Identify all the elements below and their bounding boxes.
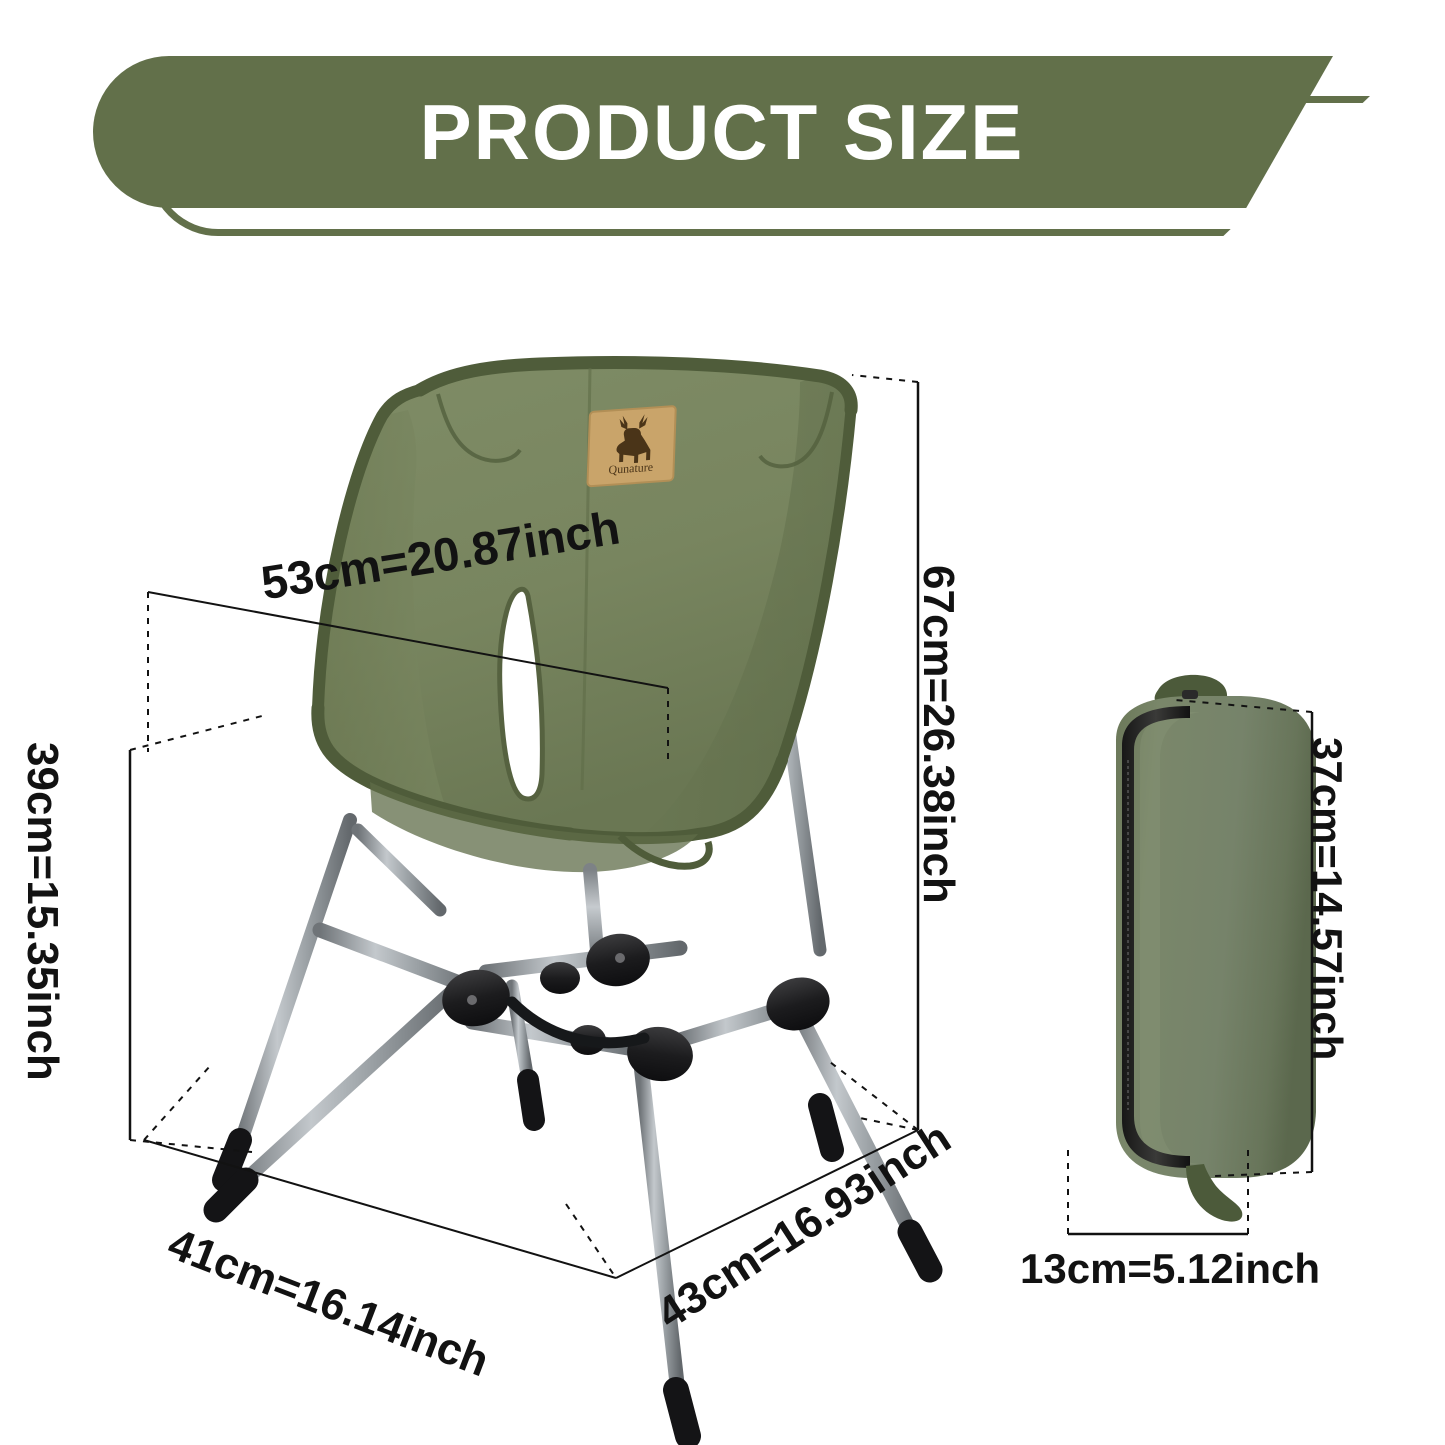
- dimension-label-seat-depth: 39cm=15.35inch: [20, 742, 64, 1081]
- dimension-label-bag-width: 13cm=5.12inch: [1020, 1248, 1320, 1290]
- dimension-label-bag-height: 37cm=14.57inch: [1306, 737, 1348, 1060]
- bag-dimension-guides: [0, 0, 1445, 1445]
- infographic-canvas: PRODUCT SIZE: [0, 0, 1445, 1445]
- dimension-label-total-height: 67cm=26.38inch: [916, 565, 960, 904]
